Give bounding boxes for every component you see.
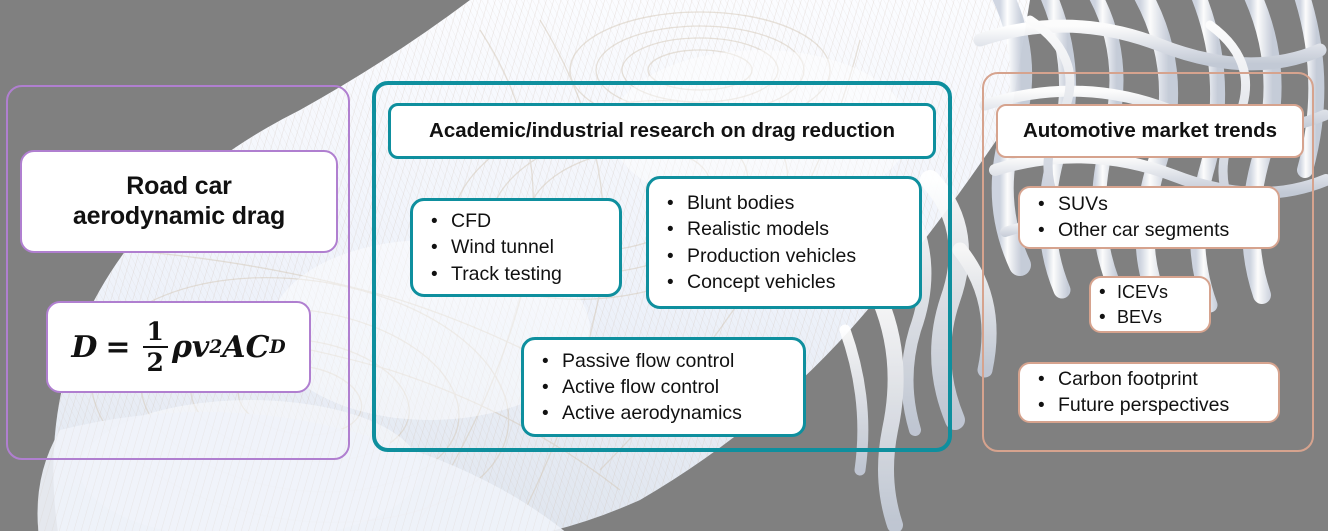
list-item: • Production vehicles (667, 243, 919, 269)
list-item: • Passive flow control (542, 348, 803, 374)
formula-area: A (222, 330, 245, 365)
list-item: • Carbon footprint (1038, 367, 1278, 393)
card-research-title[interactable]: Academic/industrial research on drag red… (388, 103, 936, 159)
bullet-icon: • (1038, 396, 1058, 415)
bullet-icon: • (667, 273, 687, 292)
bullet-icon: • (667, 247, 687, 266)
formula-cd-subscript: D (269, 337, 285, 358)
bullet-icon: • (542, 404, 562, 423)
bullet-icon: • (542, 378, 562, 397)
card-car-segments[interactable]: • SUVs • Other car segments (1018, 186, 1280, 249)
card-research-methods[interactable]: • CFD • Wind tunnel • Track testing (410, 198, 622, 297)
bullet-icon: • (431, 238, 451, 257)
list-item: • Realistic models (667, 216, 919, 242)
flow-control-list: • Passive flow control • Active flow con… (524, 348, 803, 426)
bullet-icon: • (1099, 283, 1117, 302)
card-environmental-impact[interactable]: • Carbon footprint • Future perspectives (1018, 362, 1280, 423)
formula-denominator: 2 (143, 349, 168, 375)
card-market-trends-title[interactable]: Automotive market trends (996, 104, 1304, 158)
bullet-icon: • (1038, 221, 1058, 240)
bullet-icon: • (431, 265, 451, 284)
card-powertrain-types[interactable]: • ICEVs • BEVs (1089, 276, 1211, 333)
card-road-car-title[interactable]: Road car aerodynamic drag (20, 150, 338, 253)
road-car-title-text: Road car aerodynamic drag (22, 172, 336, 231)
research-methods-list: • CFD • Wind tunnel • Track testing (413, 208, 619, 286)
list-item: • ICEVs (1099, 280, 1209, 305)
formula-lhs: D (71, 330, 97, 365)
drag-equation: D = 1 2 ρ v 2 A C D (71, 319, 285, 376)
environmental-impact-list: • Carbon footprint • Future perspectives (1020, 367, 1278, 419)
list-item: • Other car segments (1038, 218, 1278, 244)
list-item: • Blunt bodies (667, 190, 919, 216)
powertrain-list: • ICEVs • BEVs (1091, 280, 1209, 330)
card-drag-formula[interactable]: D = 1 2 ρ v 2 A C D (46, 301, 311, 393)
slide-canvas: Road car aerodynamic drag D = 1 2 ρ v 2 … (0, 0, 1328, 531)
research-title-text: Academic/industrial research on drag red… (391, 119, 933, 143)
bullet-icon: • (1099, 308, 1117, 327)
left-group-container (6, 85, 350, 460)
car-segments-list: • SUVs • Other car segments (1020, 192, 1278, 244)
list-item: • Active aerodynamics (542, 400, 803, 426)
list-item: • BEVs (1099, 305, 1209, 330)
card-flow-control[interactable]: • Passive flow control • Active flow con… (521, 337, 806, 437)
market-trends-title-text: Automotive market trends (998, 119, 1302, 143)
research-bodies-list: • Blunt bodies • Realistic models • Prod… (649, 190, 919, 295)
list-item: • Track testing (431, 261, 619, 287)
list-item: • Wind tunnel (431, 234, 619, 260)
list-item: • Future perspectives (1038, 393, 1278, 419)
formula-one-half: 1 2 (143, 319, 168, 376)
bullet-icon: • (667, 194, 687, 213)
list-item: • SUVs (1038, 192, 1278, 218)
bullet-icon: • (1038, 370, 1058, 389)
bullet-icon: • (1038, 195, 1058, 214)
list-item: • Active flow control (542, 374, 803, 400)
formula-rho: ρ (172, 330, 192, 365)
bullet-icon: • (542, 352, 562, 371)
bullet-icon: • (431, 212, 451, 231)
formula-cd-base: C (246, 330, 270, 365)
list-item: • CFD (431, 208, 619, 234)
formula-numerator: 1 (143, 319, 168, 345)
formula-equals: = (105, 330, 130, 365)
bullet-icon: • (667, 220, 687, 239)
formula-velocity-exponent: 2 (209, 337, 222, 358)
formula-velocity: v (192, 330, 209, 365)
list-item: • Concept vehicles (667, 269, 919, 295)
card-research-bodies[interactable]: • Blunt bodies • Realistic models • Prod… (646, 176, 922, 309)
